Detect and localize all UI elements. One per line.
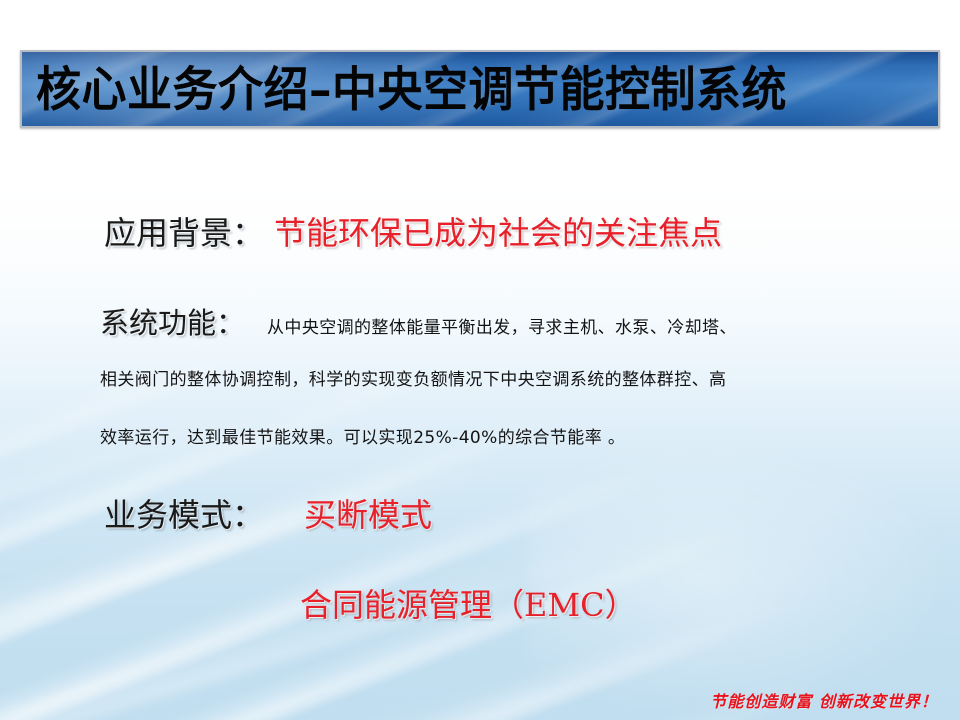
page-title: 核心业务介绍–中央空调节能控制系统 (22, 65, 787, 113)
section-business-model: 业务模式： 买断模式 (104, 490, 432, 536)
system-function-line-1: 从中央空调的整体能量平衡出发，寻求主机、水泵、冷却塔、 (267, 313, 737, 338)
slide-title-banner: 核心业务介绍–中央空调节能控制系统 (20, 50, 940, 128)
application-background-label: 应用背景： (104, 208, 264, 254)
system-function-line-3: 效率运行，达到最佳节能效果。可以实现25%-40%的综合节能率 。 (100, 423, 625, 448)
sky-haze-decoration (528, 432, 960, 720)
business-model-label: 业务模式： (104, 490, 264, 536)
business-model-option-emc-row: 合同能源管理（EMC） (300, 580, 637, 626)
application-background-value: 节能环保已成为社会的关注焦点 (274, 208, 722, 254)
section-system-function: 系统功能： 从中央空调的整体能量平衡出发，寻求主机、水泵、冷却塔、 (100, 300, 737, 342)
system-function-line-3-row: 效率运行，达到最佳节能效果。可以实现25%-40%的综合节能率 。 (100, 423, 625, 448)
slide-canvas: 核心业务介绍–中央空调节能控制系统 应用背景： 节能环保已成为社会的关注焦点 系… (0, 0, 960, 720)
system-function-line-2-row: 相关阀门的整体协调控制，科学的实现变负额情况下中央空调系统的整体群控、高 (100, 365, 726, 390)
section-application-background: 应用背景： 节能环保已成为社会的关注焦点 (104, 208, 722, 254)
business-model-option-emc: 合同能源管理（EMC） (300, 580, 637, 626)
system-function-label: 系统功能： (100, 300, 245, 342)
business-model-option-buyout: 买断模式 (304, 490, 432, 536)
system-function-line-2: 相关阀门的整体协调控制，科学的实现变负额情况下中央空调系统的整体群控、高 (100, 365, 726, 390)
footer-slogan: 节能创造财富 创新改变世界！ (710, 688, 938, 712)
